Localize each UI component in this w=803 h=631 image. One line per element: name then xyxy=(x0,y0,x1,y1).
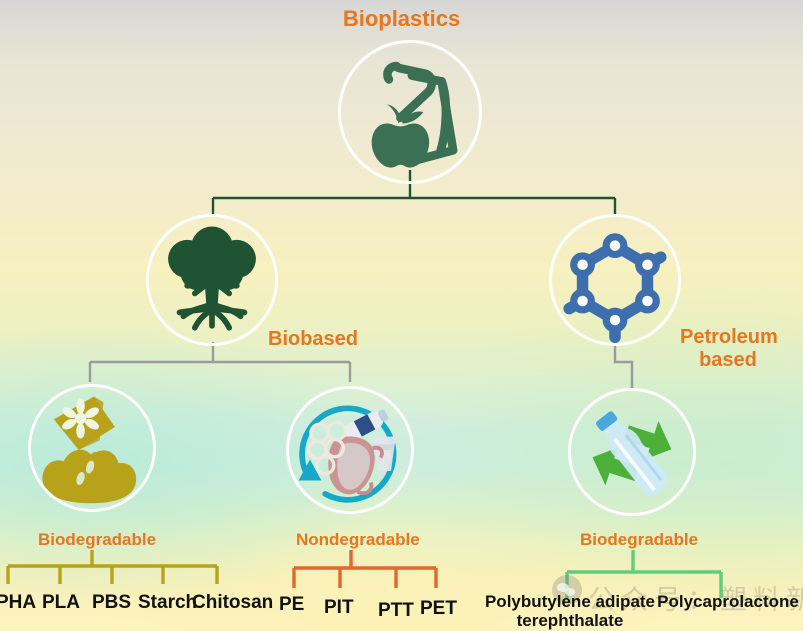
leaf-pit: PIT xyxy=(324,597,354,619)
leaf-pbat-line2: terephthalate xyxy=(517,611,624,630)
leaf-pet: PET xyxy=(420,598,457,620)
leaf-pbs: PBS xyxy=(92,592,131,614)
nondegradable-connectors xyxy=(294,550,436,588)
leaf-pbat-line1: Polybutylene adipate xyxy=(485,592,655,611)
tree-icon xyxy=(149,214,275,346)
label-biodegradable-left: Biodegradable xyxy=(38,530,156,550)
label-petroleum-line2: based xyxy=(699,349,757,371)
leaf-pcl: Polycaprolactone xyxy=(652,592,803,611)
label-petroleum-based: Petroleum based xyxy=(680,326,776,372)
page-title: Bioplastics xyxy=(0,6,803,32)
leaf-chitosan: Chitosan xyxy=(192,592,273,614)
petroleum-connector xyxy=(615,342,632,388)
node-petroleum[interactable] xyxy=(549,214,681,346)
node-biodegradable-left[interactable] xyxy=(28,384,156,512)
diagram-canvas: Bioplastics xyxy=(0,0,803,631)
plastic-waste-recycle-icon xyxy=(289,386,411,514)
label-petroleum-line1: Petroleum xyxy=(680,326,778,348)
leaf-pha: PHA xyxy=(0,592,36,614)
node-biobased[interactable] xyxy=(146,214,278,346)
node-bioplastics[interactable] xyxy=(338,40,482,184)
grocery-bag-apple-icon xyxy=(341,40,479,184)
label-nondegradable: Nondegradable xyxy=(296,530,420,550)
biodegradable-left-connectors xyxy=(8,550,217,584)
label-biobased: Biobased xyxy=(268,328,358,351)
leaf-ptt: PTT xyxy=(378,600,414,622)
starch-pouring-icon xyxy=(31,384,153,512)
leaf-pbat: Polybutylene adipate terephthalate xyxy=(484,592,656,630)
leaf-pla: PLA xyxy=(42,592,80,614)
leaf-pe: PE xyxy=(279,594,304,616)
node-nondegradable[interactable] xyxy=(286,386,414,514)
leaf-starch: Starch xyxy=(138,592,197,614)
benzene-ring-icon xyxy=(552,214,678,346)
pet-bottle-recycle-icon xyxy=(571,388,693,516)
node-biodegradable-right[interactable] xyxy=(568,388,696,516)
label-biodegradable-right: Biodegradable xyxy=(580,530,698,550)
